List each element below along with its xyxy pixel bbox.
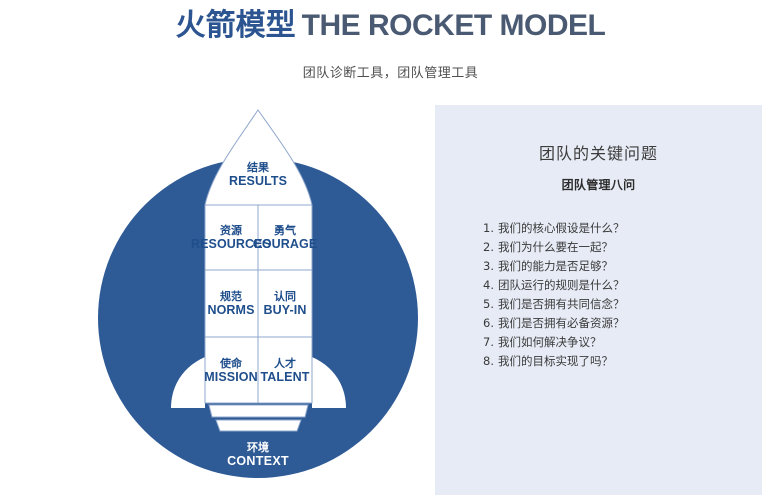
question-text: 我们是否拥有共同信念？ (498, 297, 625, 311)
list-item: 2.我们为什么要在一起？ (483, 238, 732, 257)
page-header: 火箭模型THE ROCKET MODEL 团队诊断工具，团队管理工具 (0, 0, 781, 81)
question-text: 团队运行的规则是什么？ (498, 278, 625, 292)
rocket-nose-cone (205, 110, 312, 205)
cell-label-chinese-resources: 资源 (220, 223, 242, 237)
cell-label-english-buyin: BUY-IN (264, 303, 307, 317)
question-number: 1. (483, 219, 498, 238)
question-text: 我们为什么要在一起？ (498, 240, 613, 254)
base-label-chinese: 环境 (247, 440, 269, 454)
rocket-model-diagram: 结果 RESULTS 资源 RESOURCES 勇气 COURAGE 规范 NO… (0, 95, 430, 495)
list-item: 6.我们是否拥有必备资源？ (483, 314, 732, 333)
cell-label-english-talent: TALENT (261, 370, 310, 384)
question-number: 7. (483, 333, 498, 352)
page-title-english: THE ROCKET MODEL (302, 9, 606, 42)
question-text: 我们的能力是否足够？ (498, 259, 613, 273)
page-title-chinese: 火箭模型 (176, 8, 296, 43)
list-item: 4.团队运行的规则是什么？ (483, 276, 732, 295)
list-item: 7.我们如何解决争议？ (483, 333, 732, 352)
list-item: 1.我们的核心假设是什么？ (483, 219, 732, 238)
rocket-nozzle-lower (216, 420, 301, 431)
question-text: 我们的核心假设是什么？ (498, 221, 625, 235)
question-number: 4. (483, 276, 498, 295)
list-item: 8.我们的目标实现了吗？ (483, 352, 732, 371)
panel-subheading: 团队管理八问 (465, 164, 732, 193)
question-text: 我们如何解决争议？ (498, 335, 602, 349)
question-number: 3. (483, 257, 498, 276)
cell-label-chinese-norms: 规范 (220, 289, 242, 303)
questions-list: 1.我们的核心假设是什么？ 2.我们为什么要在一起？ 3.我们的能力是否足够？ … (465, 193, 732, 371)
base-label-english: CONTEXT (227, 454, 289, 468)
page-title: 火箭模型THE ROCKET MODEL (0, 8, 781, 44)
cell-label-english-mission: MISSION (204, 370, 257, 384)
page-subtitle: 团队诊断工具，团队管理工具 (0, 44, 781, 81)
question-text: 我们的目标实现了吗？ (498, 354, 613, 368)
question-text: 我们是否拥有必备资源？ (498, 316, 625, 330)
cell-label-chinese-mission: 使命 (219, 356, 243, 370)
list-item: 5.我们是否拥有共同信念？ (483, 295, 732, 314)
nose-label-chinese: 结果 (246, 160, 269, 174)
cell-label-english-norms: NORMS (207, 303, 254, 317)
nose-label-english: RESULTS (229, 174, 287, 188)
cell-label-chinese-courage: 勇气 (274, 223, 296, 237)
rocket-svg: 结果 RESULTS 资源 RESOURCES 勇气 COURAGE 规范 NO… (0, 95, 430, 495)
question-number: 2. (483, 238, 498, 257)
list-item: 3.我们的能力是否足够？ (483, 257, 732, 276)
question-number: 6. (483, 314, 498, 333)
question-number: 5. (483, 295, 498, 314)
panel-heading: 团队的关键问题 (465, 140, 732, 164)
cell-label-english-courage: COURAGE (253, 237, 318, 251)
key-questions-panel: 团队的关键问题 团队管理八问 1.我们的核心假设是什么？ 2.我们为什么要在一起… (435, 105, 762, 495)
question-number: 8. (483, 352, 498, 371)
cell-label-chinese-talent: 人才 (274, 356, 296, 370)
rocket-nozzle-upper (209, 405, 308, 417)
cell-label-chinese-buyin: 认同 (274, 289, 296, 303)
